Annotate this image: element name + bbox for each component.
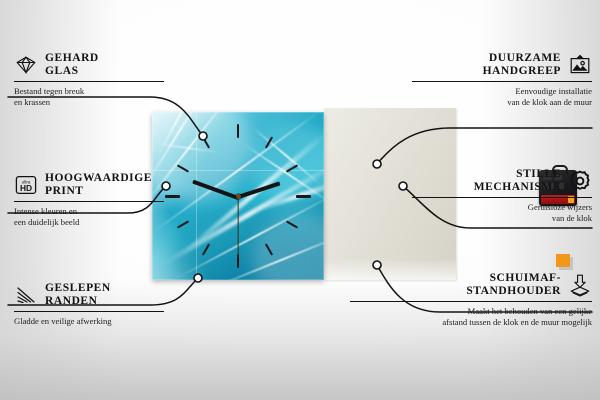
feature-description: Maakt het behouden van een gelijke afsta… (350, 306, 592, 329)
product-image (150, 104, 350, 284)
feature-title-line2: STANDHOUDER (350, 285, 561, 298)
feature-divider (14, 311, 164, 312)
feature-title-line2: PRINT (45, 185, 152, 198)
diamond-icon (14, 53, 38, 77)
feature-gehard-glas: GEHARD GLAS Bestand tegen breuk en krass… (14, 52, 164, 109)
clock-hub (236, 194, 241, 199)
feature-stille-mechanisme: STILLE MECHANISME Geruisloze wijzers van… (412, 168, 592, 225)
feature-title-line1: STILLE (412, 168, 561, 181)
feature-hoogwaardige-print: ultra HD HOOGWAARDIGE PRINT Intense kleu… (14, 172, 164, 229)
second-hand (237, 197, 238, 257)
feature-divider (14, 201, 164, 202)
feature-title-line2: MECHANISME (412, 181, 561, 194)
feature-title-line2: RANDEN (45, 295, 111, 308)
feature-divider (14, 81, 164, 82)
foam-spacer (556, 254, 570, 267)
feature-description: Geruisloze wijzers van de klok (412, 202, 592, 225)
feature-title-line1: DUURZAME (412, 52, 561, 65)
feature-title-line1: GEHARD (45, 52, 99, 65)
feature-title-line1: HOOGWAARDIGE (45, 172, 152, 185)
tick-3 (296, 195, 311, 198)
feature-description: Intense kleuren en een duidelijk beeld (14, 206, 164, 229)
clock-face (152, 112, 324, 280)
feature-title-line2: HANDGREEP (412, 65, 561, 78)
gear-icon (568, 169, 592, 193)
feature-description: Eenvoudige installatie van de klok aan d… (412, 86, 592, 109)
feature-description: Bestand tegen breuk en krassen (14, 86, 164, 109)
picture-frame-icon (568, 53, 592, 77)
ultra-hd-icon: ultra HD (14, 173, 38, 197)
feature-geslepen-randen: GESLEPEN RANDEN Gladde en veilige afwerk… (14, 282, 164, 327)
tick-9 (165, 195, 180, 198)
feature-duurzame-handgreep: DUURZAME HANDGREEP Eenvoudige installati… (412, 52, 592, 109)
feature-title-line1: GESLEPEN (45, 282, 111, 295)
foam-spacer-icon (568, 273, 592, 297)
feature-schuimafstandhouder: SCHUIMAF- STANDHOUDER Maakt het behouden… (350, 272, 592, 329)
bevelled-edges-icon (14, 283, 38, 307)
feature-description: Gladde en veilige afwerking (14, 316, 164, 327)
ultra-hd-large-text: HD (20, 183, 32, 193)
feature-title-line1: SCHUIMAF- (350, 272, 561, 285)
tick-12 (237, 124, 239, 138)
feature-title-line2: GLAS (45, 65, 99, 78)
feature-divider (350, 301, 592, 302)
feature-divider (412, 197, 592, 198)
feature-divider (412, 81, 592, 82)
infographic-canvas: GEHARD GLAS Bestand tegen breuk en krass… (0, 0, 600, 400)
